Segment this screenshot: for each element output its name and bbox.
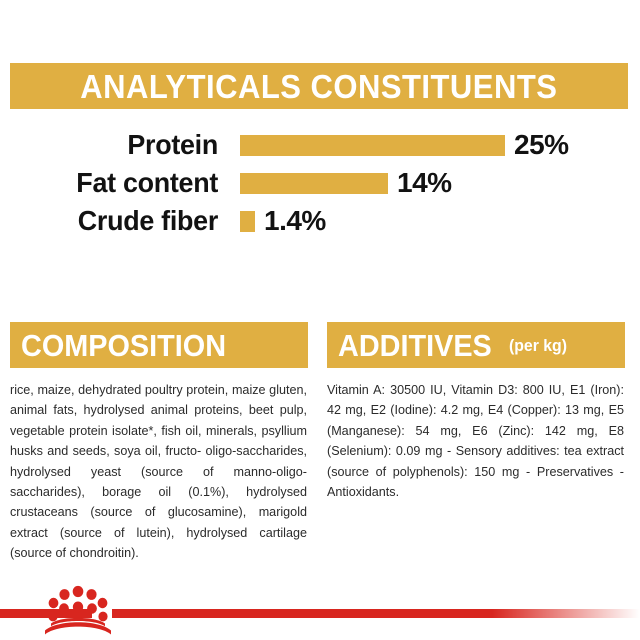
additives-panel-header: ADDITIVES (per kg) (327, 322, 625, 368)
analyticals-header-band: ANALYTICALS CONSTITUENTS (10, 63, 628, 109)
additives-title: ADDITIVES (338, 330, 492, 361)
analyticals-bar-chart: Protein 25% Fat content 14% Crude fiber … (0, 126, 640, 244)
chart-bar-group: 25% (240, 126, 569, 164)
chart-bar-label: Fat content (9, 169, 218, 197)
chart-bar-label: Crude fiber (9, 207, 218, 235)
info-panels: COMPOSITION rice, maize, dehydrated poul… (10, 322, 628, 564)
footer-rule-right (112, 609, 640, 618)
composition-body-text: rice, maize, dehydrated poultry protein,… (10, 380, 308, 564)
composition-panel: COMPOSITION rice, maize, dehydrated poul… (10, 322, 308, 564)
additives-subtitle: (per kg) (509, 337, 567, 354)
chart-bar-value: 1.4% (264, 207, 326, 235)
chart-bar-value: 25% (514, 131, 569, 159)
chart-bar (240, 211, 255, 232)
chart-bar-value: 14% (397, 169, 452, 197)
chart-bar-group: 1.4% (240, 202, 326, 240)
chart-row: Crude fiber 1.4% (0, 202, 640, 240)
chart-bar (240, 135, 505, 156)
composition-panel-header: COMPOSITION (10, 322, 308, 368)
analyticals-title: ANALYTICALS CONSTITUENTS (80, 70, 557, 103)
additives-panel: ADDITIVES (per kg) Vitamin A: 30500 IU, … (327, 322, 625, 564)
footer-brand-bar (0, 576, 640, 640)
composition-title: COMPOSITION (21, 330, 226, 361)
royal-canin-crown-logo (42, 583, 114, 635)
chart-bar (240, 173, 388, 194)
chart-row: Protein 25% (0, 126, 640, 164)
chart-bar-label: Protein (9, 131, 218, 159)
nutrition-panel-page: ANALYTICALS CONSTITUENTS Protein 25% Fat… (0, 0, 640, 640)
chart-row: Fat content 14% (0, 164, 640, 202)
chart-bar-group: 14% (240, 164, 452, 202)
additives-body-text: Vitamin A: 30500 IU, Vitamin D3: 800 IU,… (327, 380, 625, 502)
